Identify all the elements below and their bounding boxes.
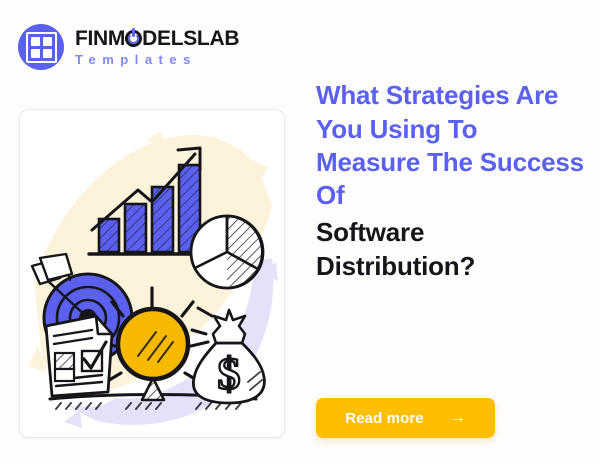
document-checklist-icon: [46, 316, 112, 396]
power-button-o-icon: [125, 30, 142, 47]
brand-name-post: DELSLAB: [142, 28, 239, 49]
headline-accent: What Strategies Are You Using To Measure…: [316, 80, 584, 210]
arrow-right-icon: →: [450, 410, 466, 426]
svg-text:$: $: [218, 348, 241, 399]
illustration-panel: $: [20, 110, 284, 437]
brand-wordmark: FINM DELSLAB Templates: [75, 28, 239, 66]
business-analytics-illustration: $: [20, 110, 284, 437]
brand-name-pre: FINM: [75, 28, 125, 49]
poster-canvas: FINM DELSLAB Templates: [0, 0, 600, 464]
headline-emphasis: Software Distribution?: [316, 216, 586, 283]
brand-logo[interactable]: FINM DELSLAB Templates: [18, 24, 239, 70]
page-title: What Strategies Are You Using To Measure…: [316, 79, 586, 283]
brand-tagline: Templates: [75, 53, 239, 66]
brand-name: FINM DELSLAB: [75, 28, 239, 49]
pie-chart-icon: [191, 216, 263, 288]
grid-squares-glyph: [26, 32, 57, 63]
idea-coin-icon: [118, 309, 188, 379]
read-more-label: Read more: [345, 410, 423, 427]
read-more-button[interactable]: Read more →: [316, 398, 495, 438]
grid-squares-icon: [18, 24, 64, 70]
